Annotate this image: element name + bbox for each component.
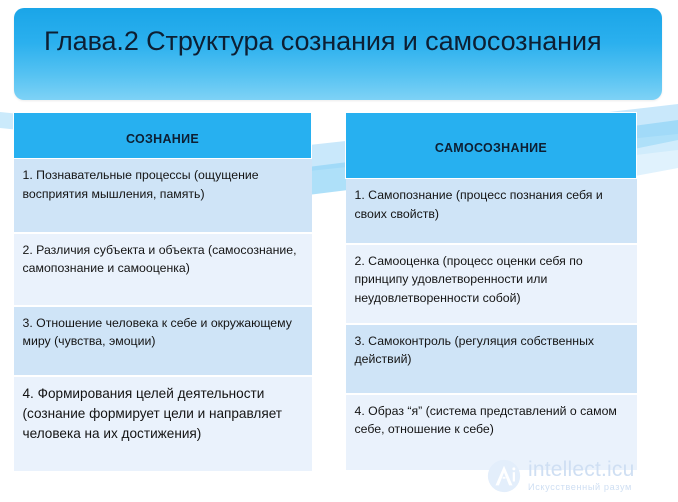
table-consciousness: СОЗНАНИЕ 1. Познавательные процессы (ощу… [13, 112, 312, 473]
table-row: 1. Самопознание (процесс познания себя и… [346, 179, 637, 244]
table-row: 4. Формирования целей деятельности (созн… [14, 376, 312, 472]
table-selfawareness: САМОСОЗНАНИЕ 1. Самопознание (процесс по… [345, 112, 637, 472]
slide-title-banner: Глава.2 Структура сознания и самосознани… [14, 8, 662, 100]
consciousness-item-3: 3. Отношение человека к себе и окружающе… [14, 306, 312, 376]
table-header-cell-consciousness: СОЗНАНИЕ [14, 113, 312, 159]
selfawareness-item-4: 4. Образ “я” (система представлений о са… [346, 394, 637, 471]
consciousness-item-4: 4. Формирования целей деятельности (созн… [14, 376, 312, 472]
table-row: 4. Образ “я” (система представлений о са… [346, 394, 637, 471]
selfawareness-item-2: 2. Самооценка (процесс оценки себя по пр… [346, 244, 637, 324]
table-header-row: САМОСОЗНАНИЕ [346, 113, 637, 179]
table-row: 1. Познавательные процессы (ощущение вос… [14, 159, 312, 233]
page-title: Глава.2 Структура сознания и самосознани… [44, 24, 648, 58]
table-row: 2. Различия субъекта и объекта (самосозн… [14, 233, 312, 306]
consciousness-item-2: 2. Различия субъекта и объекта (самосозн… [14, 233, 312, 306]
table-row: 2. Самооценка (процесс оценки себя по пр… [346, 244, 637, 324]
table-header-cell-selfawareness: САМОСОЗНАНИЕ [346, 113, 637, 179]
selfawareness-item-3: 3. Самоконтроль (регуляция собственных д… [346, 324, 637, 394]
table-row: 3. Самоконтроль (регуляция собственных д… [346, 324, 637, 394]
selfawareness-item-1: 1. Самопознание (процесс познания себя и… [346, 179, 637, 244]
table-header-label: СОЗНАНИЕ [14, 126, 311, 146]
table-header-row: СОЗНАНИЕ [14, 113, 312, 159]
consciousness-item-1: 1. Познавательные процессы (ощущение вос… [14, 159, 312, 233]
slide-canvas: Глава.2 Структура сознания и самосознани… [0, 0, 678, 502]
watermark-subtitle: Искусственный разум [528, 483, 634, 492]
table-row: 3. Отношение человека к себе и окружающе… [14, 306, 312, 376]
table-header-label: САМОСОЗНАНИЕ [346, 137, 636, 155]
